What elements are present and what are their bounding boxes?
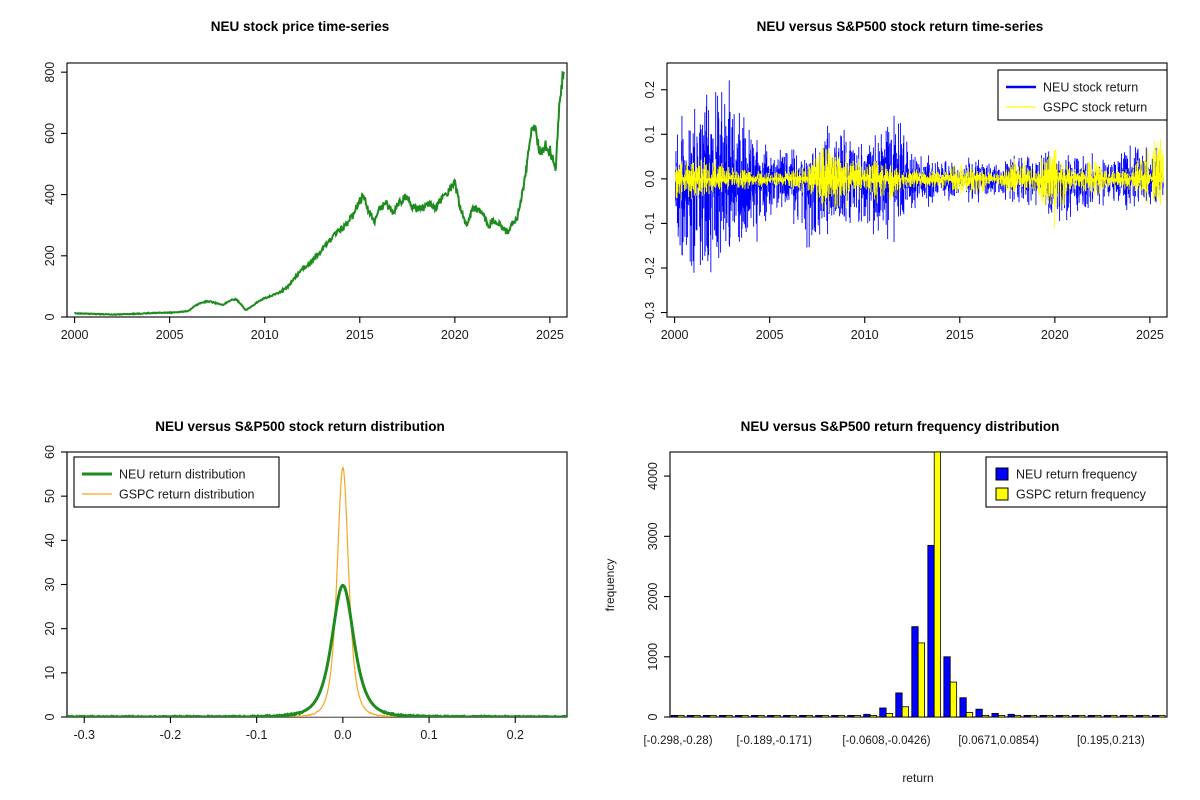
x-tick-label: 2005 xyxy=(156,328,184,342)
return-series-chart: NEU versus S&P500 stock return time-seri… xyxy=(600,0,1200,400)
y-tick-label: 0 xyxy=(43,313,57,320)
panel-return-distribution: NEU versus S&P500 stock return distribut… xyxy=(0,400,600,800)
y-axis-ticks: -0.3-0.2-0.10.00.10.2 xyxy=(643,81,667,323)
histogram-bar xyxy=(694,715,700,717)
x-axis-ticks: 200020052010201520202025 xyxy=(661,317,1164,342)
figure-grid: NEU stock price time-series 020040060080… xyxy=(0,0,1200,800)
histogram-bar xyxy=(758,715,764,717)
x-tick-label: 2025 xyxy=(536,328,564,342)
return-density-chart: NEU versus S&P500 stock return distribut… xyxy=(0,400,600,800)
histogram-bar xyxy=(800,715,806,717)
x-tick-label: [-0.298,-0.28) xyxy=(643,735,712,747)
y-tick-label: 50 xyxy=(43,489,57,503)
histogram-bar xyxy=(1095,715,1101,717)
y-tick-label: 800 xyxy=(43,62,57,83)
y-tick-label: 0 xyxy=(646,713,660,720)
histogram-bar xyxy=(880,708,886,717)
legend-label[interactable]: GSPC stock return xyxy=(1043,101,1147,115)
histogram-bar xyxy=(854,715,860,717)
histogram-bar xyxy=(767,715,773,717)
legend-swatch xyxy=(996,468,1008,480)
neu-price-line xyxy=(75,71,565,315)
x-tick-label: [0.195,0.213) xyxy=(1077,735,1145,747)
panel-return-frequency: NEU versus S&P500 return frequency distr… xyxy=(600,400,1200,800)
histogram-bar xyxy=(918,643,924,717)
y-tick-label: -0.2 xyxy=(643,257,657,279)
legend-label[interactable]: NEU return frequency xyxy=(1016,468,1138,482)
histogram-bar xyxy=(998,715,1004,717)
panel-neu-vs-gspc-returns: NEU versus S&P500 stock return time-seri… xyxy=(600,0,1200,400)
histogram-bar xyxy=(886,713,892,717)
histogram-bar xyxy=(816,715,822,717)
histogram-bar xyxy=(822,715,828,717)
y-tick-label: 200 xyxy=(43,245,57,266)
x-tick-label: 2025 xyxy=(1136,328,1164,342)
x-tick-label: 2010 xyxy=(851,328,879,342)
legend-label[interactable]: NEU stock return xyxy=(1043,81,1138,95)
legend-label[interactable]: GSPC return frequency xyxy=(1016,488,1147,502)
y-tick-label: 0 xyxy=(43,713,57,720)
histogram-bar xyxy=(896,693,902,717)
x-tick-label: 2010 xyxy=(251,328,279,342)
x-tick-label: -0.2 xyxy=(160,728,182,742)
chart-title: NEU versus S&P500 stock return distribut… xyxy=(155,419,445,434)
x-tick-label: 2015 xyxy=(346,328,374,342)
x-tick-label: 2005 xyxy=(756,328,784,342)
chart-title: NEU stock price time-series xyxy=(211,19,390,34)
y-tick-label: 20 xyxy=(43,622,57,636)
histogram-bar xyxy=(902,707,908,717)
y-axis-ticks: 0102030405060 xyxy=(43,445,67,720)
y-tick-label: 1000 xyxy=(646,643,660,671)
histogram-bar xyxy=(1104,715,1110,717)
chart-title: NEU versus S&P500 stock return time-seri… xyxy=(757,19,1044,34)
y-tick-label: 30 xyxy=(43,578,57,592)
y-tick-label: 10 xyxy=(43,666,57,680)
y-tick-label: 600 xyxy=(43,123,57,144)
histogram-bar xyxy=(1111,715,1117,717)
histogram-bar xyxy=(1040,715,1046,717)
y-tick-label: -0.3 xyxy=(643,302,657,324)
y-tick-label: 400 xyxy=(43,184,57,205)
x-tick-label: 2020 xyxy=(1041,328,1069,342)
histogram-bar xyxy=(703,715,709,717)
x-tick-label: 0.0 xyxy=(334,728,351,742)
histogram-bar xyxy=(1062,715,1068,717)
histogram-bar xyxy=(687,715,693,717)
histogram-bar xyxy=(774,715,780,717)
histogram-bar xyxy=(848,715,854,717)
x-tick-label: [-0.0608,-0.0426) xyxy=(842,735,930,747)
histogram-bar xyxy=(1088,715,1094,717)
histogram-bar xyxy=(950,682,956,717)
histogram-bar xyxy=(1152,715,1158,717)
legend[interactable]: NEU stock returnGSPC stock return xyxy=(998,70,1167,120)
histogram-bar xyxy=(832,715,838,717)
x-axis-ticks: [-0.298,-0.28)[-0.189,-0.171)[-0.0608,-0… xyxy=(643,735,1144,747)
y-tick-label: 0.1 xyxy=(643,126,657,143)
return-frequency-chart: NEU versus S&P500 return frequency distr… xyxy=(600,400,1200,800)
legend[interactable]: NEU return frequencyGSPC return frequenc… xyxy=(986,457,1167,507)
x-tick-label: 2000 xyxy=(61,328,89,342)
y-axis-label: frequency xyxy=(603,559,617,612)
histogram-bar xyxy=(1127,715,1133,717)
histogram-bar xyxy=(992,713,998,717)
y-tick-label: -0.1 xyxy=(643,213,657,235)
histogram-bar xyxy=(1014,715,1020,717)
histogram-bar xyxy=(838,715,844,717)
legend-label[interactable]: NEU return distribution xyxy=(119,468,245,482)
y-tick-label: 40 xyxy=(43,533,57,547)
histogram-bar xyxy=(1072,715,1078,717)
histogram-bar xyxy=(864,714,870,717)
plot-box xyxy=(67,63,567,317)
y-tick-label: 0.2 xyxy=(643,81,657,98)
histogram-bar xyxy=(944,657,950,717)
y-tick-label: 2000 xyxy=(646,583,660,611)
histogram-bar xyxy=(790,715,796,717)
histogram-bar xyxy=(751,715,757,717)
histogram-bar xyxy=(934,452,940,717)
histogram-bar xyxy=(1136,715,1142,717)
histogram-bar xyxy=(735,715,741,717)
x-tick-label: -0.3 xyxy=(73,728,95,742)
y-tick-label: 0.0 xyxy=(643,170,657,187)
histogram-bar xyxy=(928,545,934,717)
histogram-bar xyxy=(1120,715,1126,717)
histogram-bar xyxy=(976,709,982,717)
y-axis-ticks: 01000200030004000 xyxy=(646,462,670,720)
histogram-bar xyxy=(870,715,876,717)
x-axis-ticks: -0.3-0.2-0.10.00.10.2 xyxy=(73,717,524,742)
x-tick-label: 0.2 xyxy=(507,728,524,742)
histogram-bar xyxy=(784,715,790,717)
neu-density-line xyxy=(67,585,567,717)
x-tick-label: 2020 xyxy=(441,328,469,342)
histogram-bar xyxy=(678,715,684,717)
legend-label[interactable]: GSPC return distribution xyxy=(119,488,255,502)
histogram-bar xyxy=(1159,715,1165,717)
chart-title: NEU versus S&P500 return frequency distr… xyxy=(741,419,1060,434)
histogram-bar xyxy=(1046,715,1052,717)
histogram-bar xyxy=(982,715,988,717)
histogram-bar xyxy=(960,698,966,717)
x-tick-label: [0.0671,0.0854) xyxy=(958,735,1039,747)
y-axis-ticks: 0200400600800 xyxy=(43,62,67,321)
legend-swatch xyxy=(996,488,1008,500)
histogram-bar xyxy=(1008,714,1014,717)
histogram-bar xyxy=(806,715,812,717)
histogram-bar xyxy=(742,715,748,717)
histogram-bar xyxy=(710,715,716,717)
histogram-bar xyxy=(671,715,677,717)
x-tick-label: 2015 xyxy=(946,328,974,342)
histogram-bar xyxy=(1024,715,1030,717)
x-axis-label: return xyxy=(902,771,933,785)
x-tick-label: 2000 xyxy=(661,328,689,342)
histogram-bar xyxy=(1030,715,1036,717)
legend[interactable]: NEU return distributionGSPC return distr… xyxy=(74,457,279,507)
neu-price-chart: NEU stock price time-series 020040060080… xyxy=(0,0,600,400)
y-tick-label: 4000 xyxy=(646,462,660,490)
panel-neu-price-series: NEU stock price time-series 020040060080… xyxy=(0,0,600,400)
histogram-bar xyxy=(1143,715,1149,717)
y-tick-label: 3000 xyxy=(646,522,660,550)
histogram-bar xyxy=(719,715,725,717)
histogram-bar xyxy=(726,715,732,717)
y-tick-label: 60 xyxy=(43,445,57,459)
histogram-bar xyxy=(1079,715,1085,717)
x-tick-label: 0.1 xyxy=(420,728,437,742)
x-tick-label: [-0.189,-0.171) xyxy=(736,735,812,747)
x-tick-label: -0.1 xyxy=(246,728,268,742)
histogram-bar xyxy=(912,627,918,717)
histogram-bar xyxy=(966,712,972,717)
x-axis-ticks: 200020052010201520202025 xyxy=(61,317,564,342)
histogram-bar xyxy=(1056,715,1062,717)
